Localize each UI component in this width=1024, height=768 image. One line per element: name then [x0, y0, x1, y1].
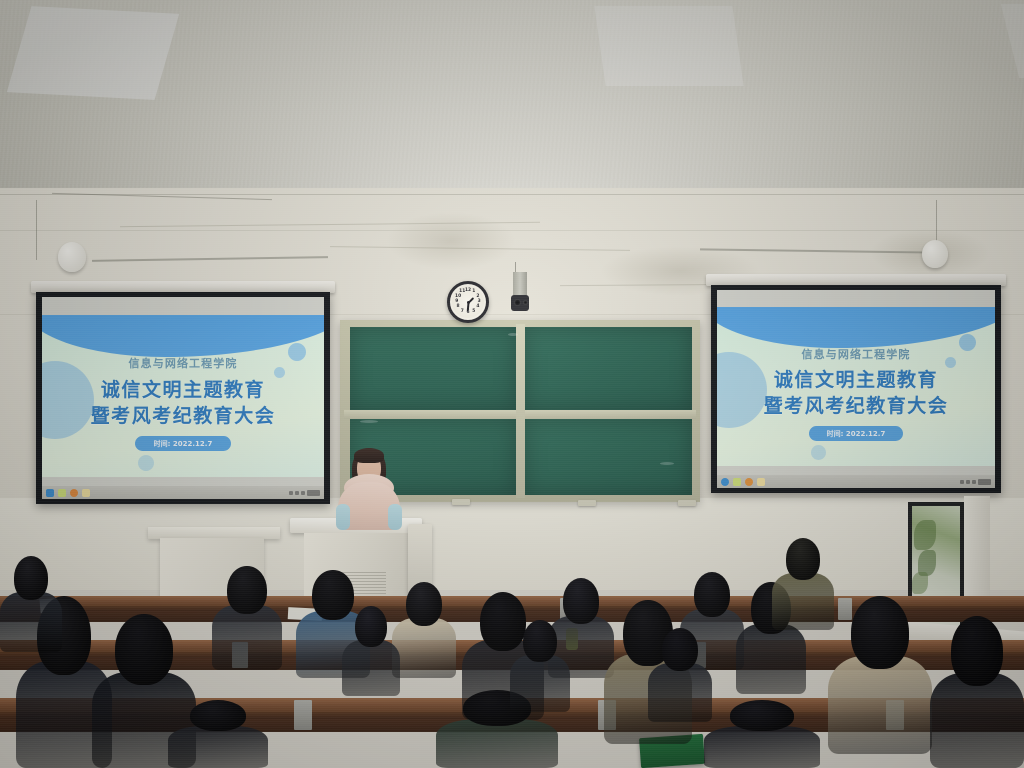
slide-blob-decor	[138, 455, 154, 471]
student-silhouette	[392, 582, 456, 678]
left-slide: 信息与网络工程学院 诚信文明主题教育 暨考风考纪教育大会 时间: 2022.12…	[42, 315, 324, 477]
student-torso	[736, 624, 806, 694]
right-projection-screen-frame[interactable]: 信息与网络工程学院 诚信文明主题教育 暨考风考纪教育大会 时间: 2022.12…	[711, 285, 1001, 493]
slide-title-line2: 暨考风考纪教育大会	[42, 401, 324, 428]
ceiling-shading	[0, 0, 1024, 196]
slide-wave-decor	[42, 315, 324, 357]
chalk-mark	[660, 462, 674, 465]
student-torso	[828, 656, 932, 754]
student-torso	[212, 605, 282, 670]
student-torso	[648, 663, 712, 722]
student-head	[523, 620, 557, 662]
student-head	[662, 628, 698, 671]
clock-numeral: 11	[458, 289, 466, 294]
student-head	[694, 572, 730, 617]
chalk-tray-clip	[578, 500, 596, 506]
chalkboard-panel-top-right	[525, 327, 692, 411]
student-torso	[342, 640, 400, 696]
clock-numeral: 9	[453, 299, 461, 304]
student-silhouette	[772, 538, 834, 630]
document-icon[interactable]	[757, 478, 765, 486]
slide-blob-decor	[811, 445, 826, 460]
slide-subtitle: 信息与网络工程学院	[42, 355, 324, 371]
slide-subtitle: 信息与网络工程学院	[717, 346, 995, 362]
network-icon[interactable]	[289, 491, 293, 495]
student-torso	[0, 592, 62, 652]
left-screen-taskbar[interactable]	[42, 486, 324, 499]
chalk-mark	[508, 333, 518, 336]
student-head	[851, 596, 909, 669]
student-torso	[772, 573, 834, 630]
volume-icon[interactable]	[295, 491, 299, 495]
student-torso	[930, 673, 1024, 768]
wall-speaker	[922, 240, 948, 268]
input-method-icon[interactable]	[301, 491, 305, 495]
student-head	[227, 566, 266, 614]
media-player-icon[interactable]	[745, 478, 753, 486]
student-head	[190, 700, 246, 731]
lower-wall	[0, 498, 1024, 590]
input-method-icon[interactable]	[972, 480, 976, 484]
document-icon[interactable]	[82, 489, 90, 497]
clock-readout[interactable]	[307, 490, 320, 496]
chalk-tray-clip	[452, 499, 470, 505]
student-head	[115, 614, 173, 685]
ceiling-wire	[36, 200, 37, 260]
volume-icon[interactable]	[966, 480, 970, 484]
student-silhouette	[648, 628, 712, 722]
folder-icon[interactable]	[733, 478, 741, 486]
left-projection-screen-frame[interactable]: 信息与网络工程学院 诚信文明主题教育 暨考风考纪教育大会 时间: 2022.12…	[36, 292, 330, 504]
slide-date-badge: 时间: 2022.12.7	[809, 426, 903, 441]
right-screen-taskbar[interactable]	[717, 475, 995, 488]
clock-numeral: 8	[454, 304, 462, 309]
student-silhouette	[168, 700, 268, 768]
camera-lens-icon	[514, 299, 521, 306]
student-head	[786, 538, 821, 580]
student-silhouette	[828, 596, 932, 754]
clock-readout[interactable]	[978, 479, 991, 485]
suspended-ceiling	[0, 0, 1024, 196]
clock-center-pin	[467, 301, 470, 304]
student-silhouette	[704, 700, 820, 768]
slide-title-line2: 暨考风考纪教育大会	[717, 391, 995, 418]
foliage-decor	[914, 520, 936, 550]
student-silhouette	[930, 616, 1024, 768]
classroom-photo: 12 1 2 3 4 5 6 7 8 9 10 11	[0, 0, 1024, 768]
network-icon[interactable]	[960, 480, 964, 484]
chalkboard-panel-bottom-right	[525, 419, 692, 495]
presenter-right-sleeve	[388, 504, 402, 530]
slide-title-line1: 诚信文明主题教育	[42, 375, 324, 402]
student-torso	[168, 726, 268, 768]
student-silhouette	[212, 566, 282, 670]
right-slide: 信息与网络工程学院 诚信文明主题教育 暨考风考纪教育大会 时间: 2022.12…	[717, 307, 995, 466]
student-torso	[704, 726, 820, 768]
clock-numeral: 2	[474, 294, 482, 299]
student-head	[951, 616, 1004, 686]
media-player-icon[interactable]	[70, 489, 78, 497]
presenter-left-sleeve	[336, 504, 350, 530]
student-head	[563, 578, 600, 624]
system-tray[interactable]	[960, 479, 991, 485]
student-torso	[510, 655, 570, 712]
chalkboard-divider-vertical	[516, 324, 525, 498]
student-silhouette	[0, 556, 62, 652]
system-tray[interactable]	[289, 490, 320, 496]
wall-speaker	[58, 242, 86, 272]
student-torso	[392, 618, 456, 678]
bench-support	[294, 700, 312, 730]
left-screen-surface: 信息与网络工程学院 诚信文明主题教育 暨考风考纪教育大会 时间: 2022.12…	[42, 297, 324, 499]
camera-lens-icon	[523, 300, 528, 305]
student-head	[355, 606, 387, 647]
clock-face: 12 1 2 3 4 5 6 7 8 9 10 11	[452, 286, 484, 318]
right-screen-surface: 信息与网络工程学院 诚信文明主题教育 暨考风考纪教育大会 时间: 2022.12…	[717, 290, 995, 488]
slide-title-line1: 诚信文明主题教育	[717, 365, 995, 392]
ie-browser-icon[interactable]	[46, 489, 54, 497]
wall-clock: 12 1 2 3 4 5 6 7 8 9 10 11	[447, 281, 489, 323]
student-silhouette	[510, 620, 570, 712]
slide-date-badge: 时间: 2022.12.7	[135, 436, 231, 451]
wall-stain	[386, 212, 516, 270]
foliage-decor	[912, 572, 928, 594]
chalkboard-panel-top-left	[350, 327, 516, 411]
slide-wave-decor	[717, 307, 995, 348]
student-torso	[436, 719, 558, 768]
student-head	[14, 556, 49, 600]
student-silhouette	[342, 606, 400, 696]
chalk-mark	[360, 420, 378, 423]
student-head	[406, 582, 442, 626]
folder-icon[interactable]	[58, 489, 66, 497]
ie-browser-icon[interactable]	[721, 478, 729, 486]
chalk-tray-clip	[678, 500, 696, 506]
student-head	[730, 700, 795, 731]
presenter-hair-front	[354, 448, 384, 463]
